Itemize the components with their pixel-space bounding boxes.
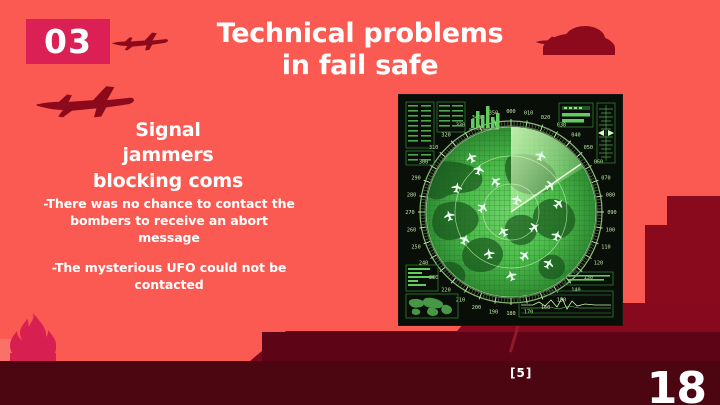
bottom-left-accent [0,339,40,361]
bottom-strip [0,361,720,405]
radar-bearing-label: 210 [456,297,465,303]
slide-canvas: 03 Technical problems in fail safe Signa… [0,0,720,405]
section-number-badge: 03 [26,19,110,64]
radar-bearing-label: 090 [607,210,616,216]
title-line-2: in fail safe [150,50,570,82]
radar-bearing-label: 050 [584,145,593,151]
flame-icon [10,313,56,361]
bullet-item-2: -The mysterious UFO could not be contact… [38,260,300,294]
radar-bearing-label: 320 [441,133,450,139]
page-number: 18 [647,367,706,405]
radar-bearing-label: 110 [601,244,610,250]
body-text: -There was no chance to contact the bomb… [38,196,300,294]
subheading: Signal jammers blocking coms [38,118,298,194]
radar-bearing-label: 100 [606,227,615,233]
bullet-item-1: -There was no chance to contact the bomb… [38,196,300,246]
radar-bearing-label: 180 [506,311,515,317]
radar-scope-svg: 0000100200300400500600700800901001101201… [399,95,622,325]
subheading-line-3: blocking coms [38,169,298,194]
radar-bearing-label: 200 [472,305,481,311]
radar-bearing-label: 020 [541,115,550,121]
radar-bearing-label: 140 [571,287,580,293]
radar-scope-image: 0000100200300400500600700800901001101201… [398,94,623,326]
radar-bearing-label: 030 [557,122,566,128]
radar-bearing-label: 060 [594,159,603,165]
radar-bearing-label: 290 [411,175,420,181]
radar-bearing-label: 010 [524,110,533,116]
radar-bearing-label: 250 [411,244,420,250]
citation-reference: [5] [510,366,532,380]
radar-bearing-label: 040 [571,133,580,139]
bottom-wedge-left [250,331,550,361]
section-number-text: 03 [44,25,92,58]
radar-bearing-label: 000 [506,109,515,115]
radar-bearing-label: 080 [606,192,615,198]
fighter-jet-silhouette-2 [36,82,134,120]
radar-bearing-label: 190 [489,309,498,315]
page-title: Technical problems in fail safe [150,18,570,82]
title-line-1: Technical problems [217,18,504,49]
radar-bearing-label: 240 [419,260,428,266]
cloud-shape-2 [565,26,605,44]
subheading-line-1: Signal [38,118,298,143]
radar-bearing-label: 070 [601,175,610,181]
radar-bearing-label: 260 [407,227,416,233]
radar-bearing-label: 270 [405,210,414,216]
radar-bearing-label: 220 [441,287,450,293]
radar-bearing-label: 280 [407,192,416,198]
subheading-line-2: jammers [38,143,298,168]
radar-bearing-label: 170 [524,309,533,315]
radar-bearing-label: 120 [594,260,603,266]
